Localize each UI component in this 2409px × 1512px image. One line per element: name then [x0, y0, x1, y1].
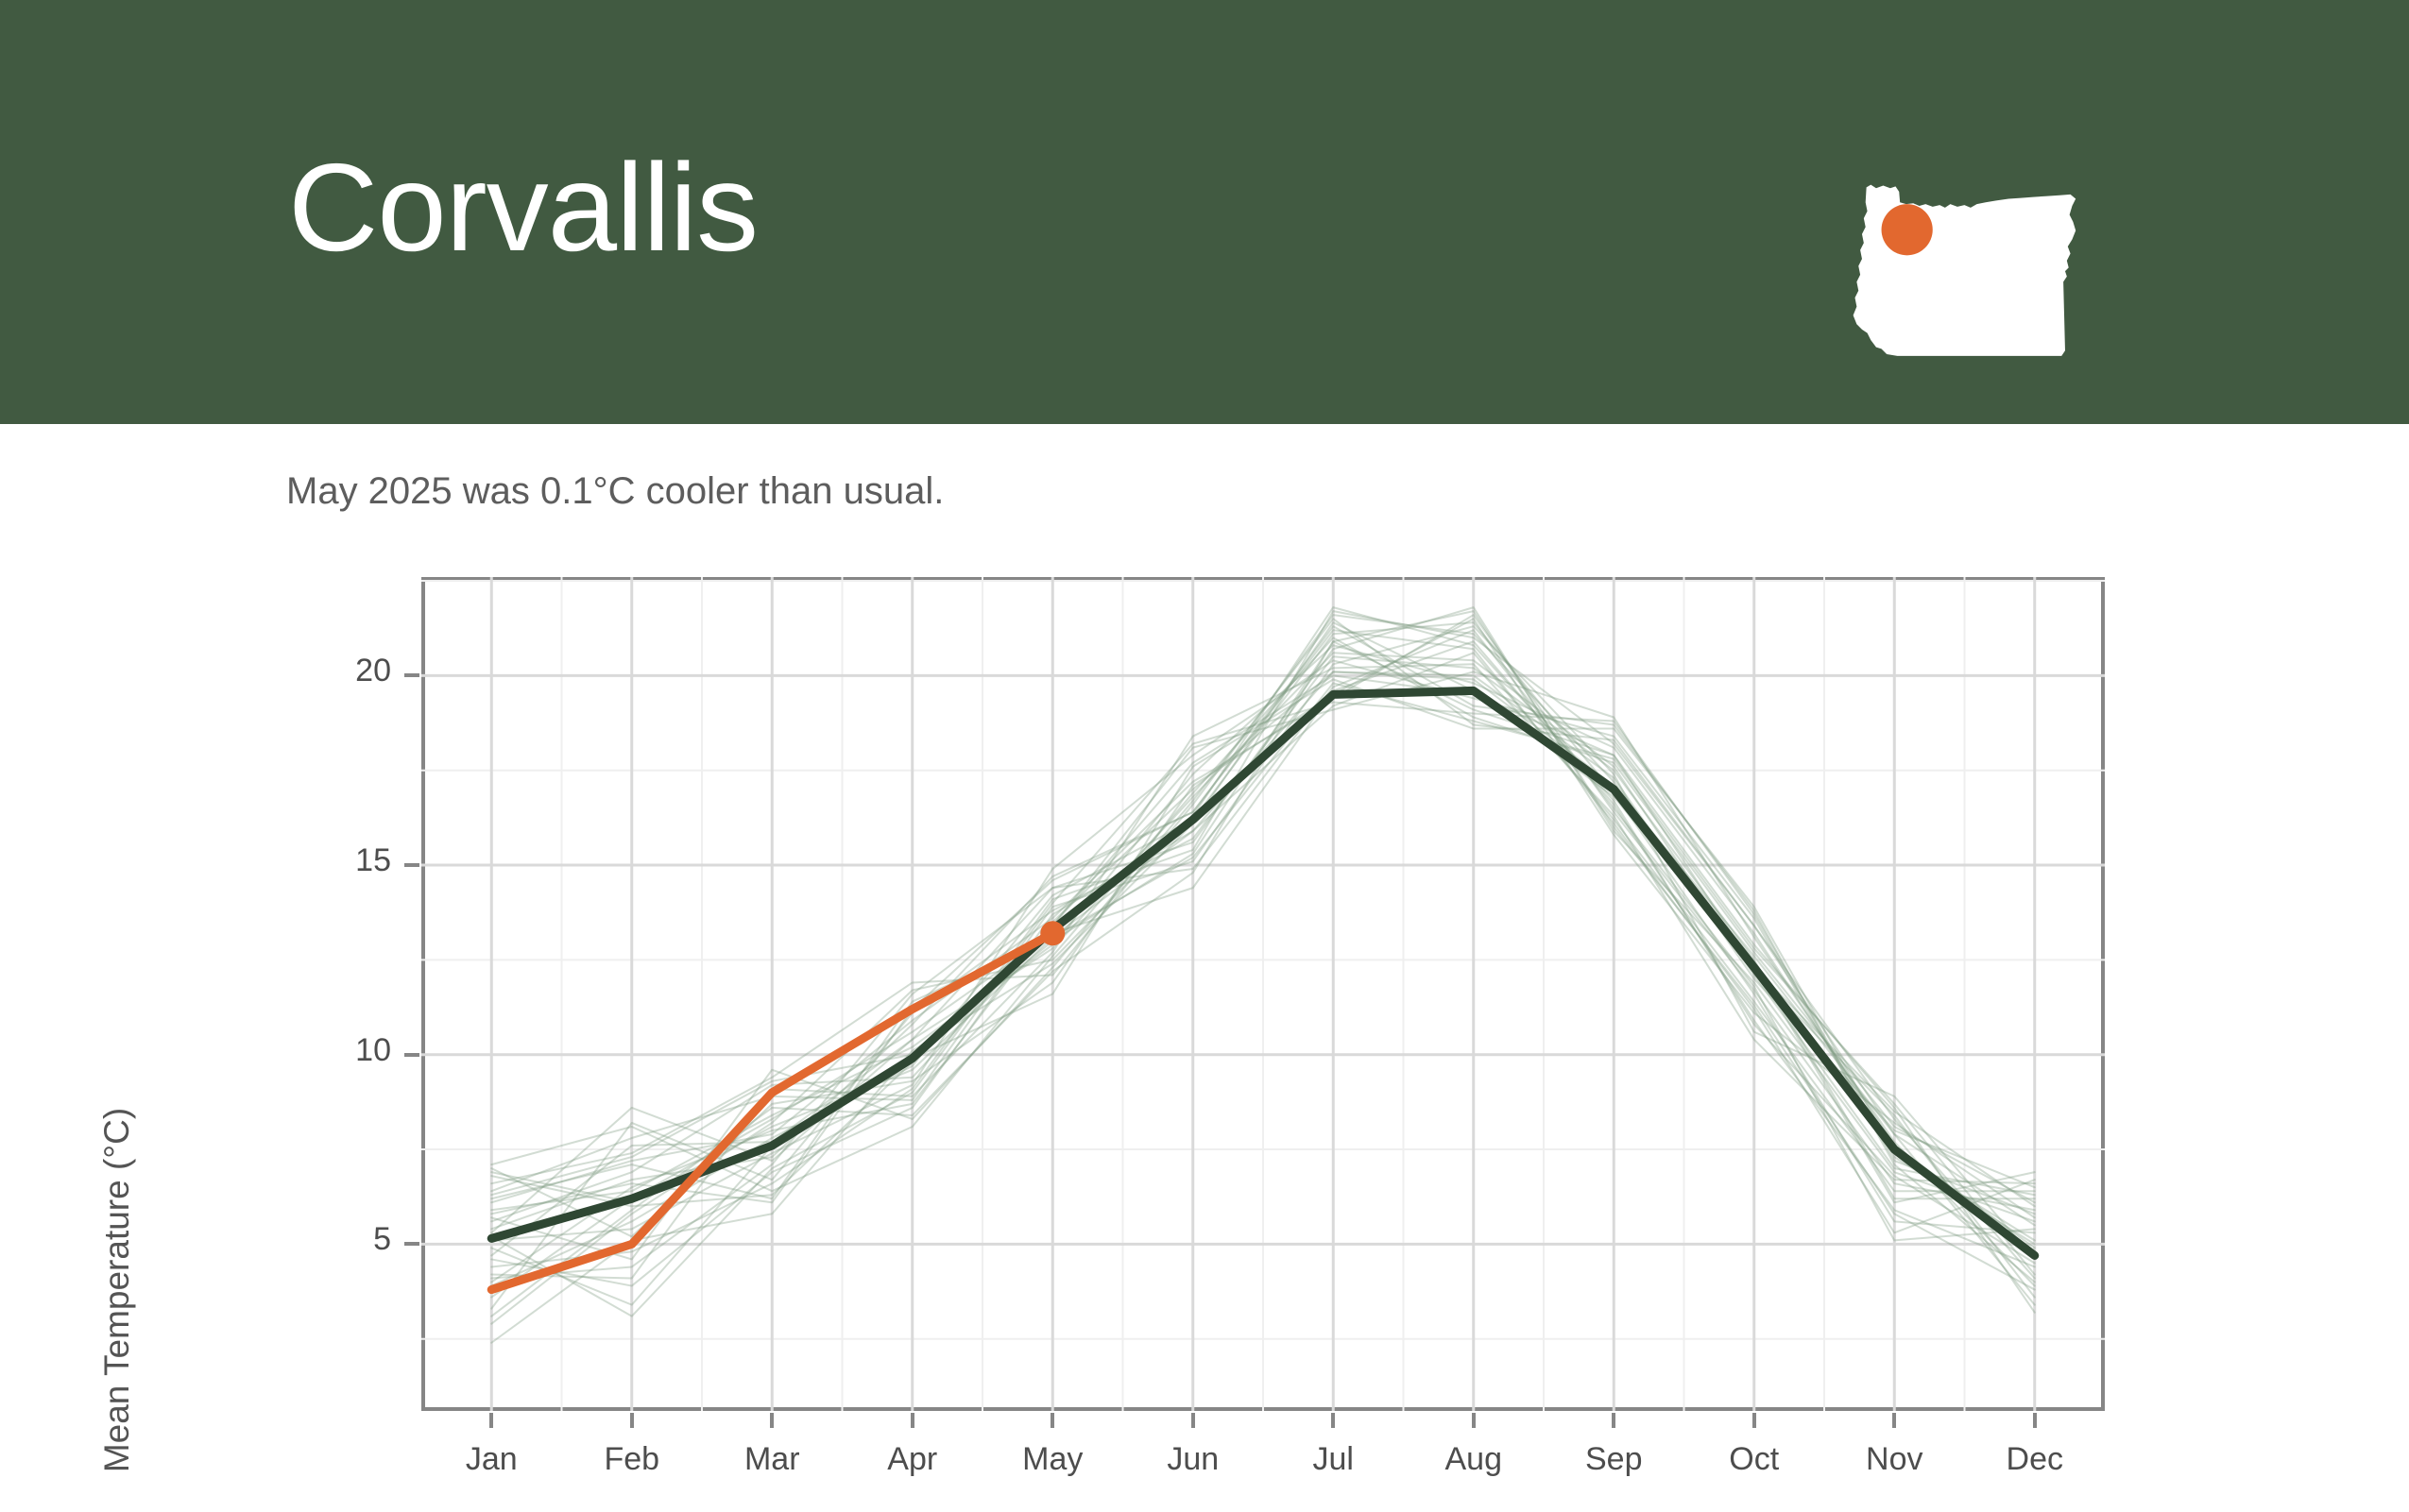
x-tick-label: Nov: [1866, 1441, 1922, 1478]
x-tick-label: Jul: [1313, 1441, 1354, 1478]
x-tick-label: Apr: [887, 1441, 937, 1478]
x-tick-label: May: [1022, 1441, 1083, 1478]
x-tick-label: Jan: [466, 1441, 518, 1478]
x-tick-mark: [1331, 1413, 1335, 1428]
page-root: Corvallis May 2025 was 0.1°C cooler than…: [0, 0, 2409, 1512]
page-header: Corvallis: [0, 0, 2409, 424]
x-tick-label: Mar: [744, 1441, 800, 1478]
temperature-chart: Mean Temperature (°C) 5101520 JanFebMarA…: [0, 552, 2173, 1497]
x-tick-mark: [1191, 1413, 1195, 1428]
x-tick-label: Dec: [2007, 1441, 2063, 1478]
x-tick-label: Aug: [1445, 1441, 1503, 1478]
oregon-shape-path: [1854, 185, 2076, 356]
x-tick-label: Feb: [604, 1441, 659, 1478]
page-title: Corvallis: [288, 145, 758, 270]
x-tick-mark: [1612, 1413, 1615, 1428]
x-tick-mark: [1472, 1413, 1476, 1428]
x-tick-label: Sep: [1585, 1441, 1643, 1478]
location-dot-icon: [1882, 204, 1933, 255]
highlight-point-group: [1040, 921, 1065, 945]
x-tick-mark: [770, 1413, 774, 1428]
x-tick-label: Jun: [1167, 1441, 1219, 1478]
x-tick-mark: [1051, 1413, 1054, 1428]
x-tick-mark: [489, 1413, 493, 1428]
current-value-marker: [1040, 921, 1065, 945]
x-tick-mark: [1752, 1413, 1756, 1428]
x-tick-mark: [1892, 1413, 1896, 1428]
x-tick-mark: [630, 1413, 634, 1428]
plot-area: [421, 577, 2105, 1411]
plot-svg: [421, 577, 2105, 1411]
oregon-state-outline-icon: [1842, 165, 2111, 368]
x-tick-label: Oct: [1729, 1441, 1779, 1478]
chart-subtitle: May 2025 was 0.1°C cooler than usual.: [286, 470, 944, 513]
x-tick-mark: [2033, 1413, 2037, 1428]
x-tick-mark: [911, 1413, 914, 1428]
